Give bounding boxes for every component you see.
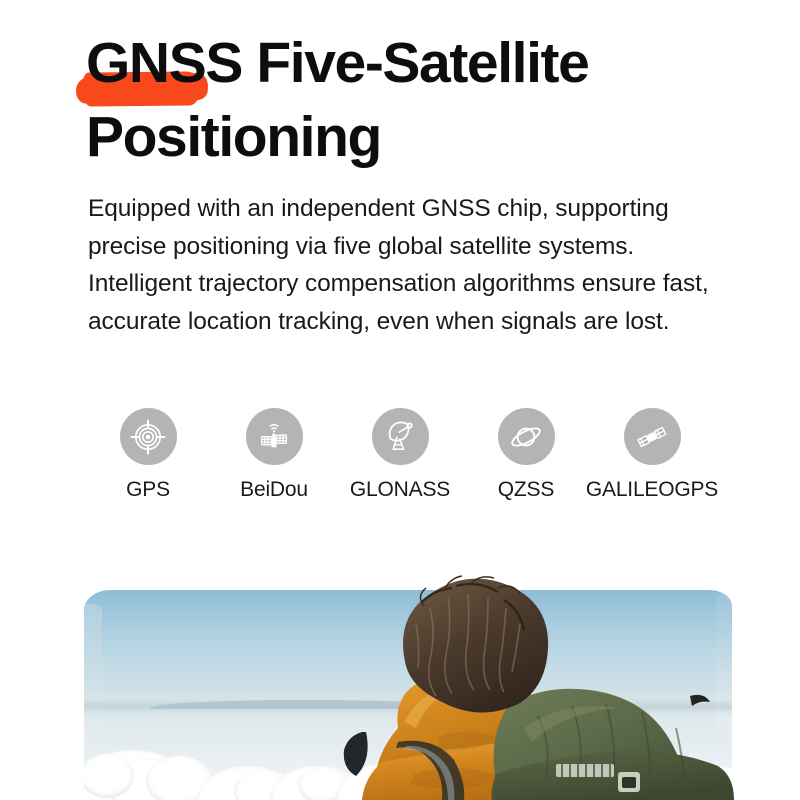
satellite-tilted-icon xyxy=(624,408,681,465)
satellite-antenna-icon xyxy=(246,408,303,465)
system-item-beidou[interactable]: BeiDou xyxy=(214,408,334,502)
system-item-glonass[interactable]: GLONASS xyxy=(340,408,460,502)
orbit-planet-icon xyxy=(498,408,555,465)
hero-heading-block: GNSS Five-Satellite Positioning xyxy=(86,26,726,174)
system-item-galileogps[interactable]: GALILEOGPS xyxy=(592,408,712,502)
system-label-beidou: BeiDou xyxy=(240,478,308,502)
description-paragraph: Equipped with an independent GNSS chip, … xyxy=(88,190,714,340)
system-label-glonass: GLONASS xyxy=(350,478,450,502)
system-label-galileogps: GALILEOGPS xyxy=(586,478,718,502)
system-item-gps[interactable]: GPS xyxy=(88,408,208,502)
system-label-qzss: QZSS xyxy=(498,478,554,502)
page-title: GNSS Five-Satellite Positioning xyxy=(86,26,726,174)
hero-photo xyxy=(0,524,800,800)
gps-target-icon xyxy=(120,408,177,465)
system-label-gps: GPS xyxy=(126,478,170,502)
satellite-systems-row: GPS BeiDou xyxy=(88,408,712,502)
satellite-dish-icon xyxy=(372,408,429,465)
hiker-figure xyxy=(0,524,800,800)
system-item-qzss[interactable]: QZSS xyxy=(466,408,586,502)
